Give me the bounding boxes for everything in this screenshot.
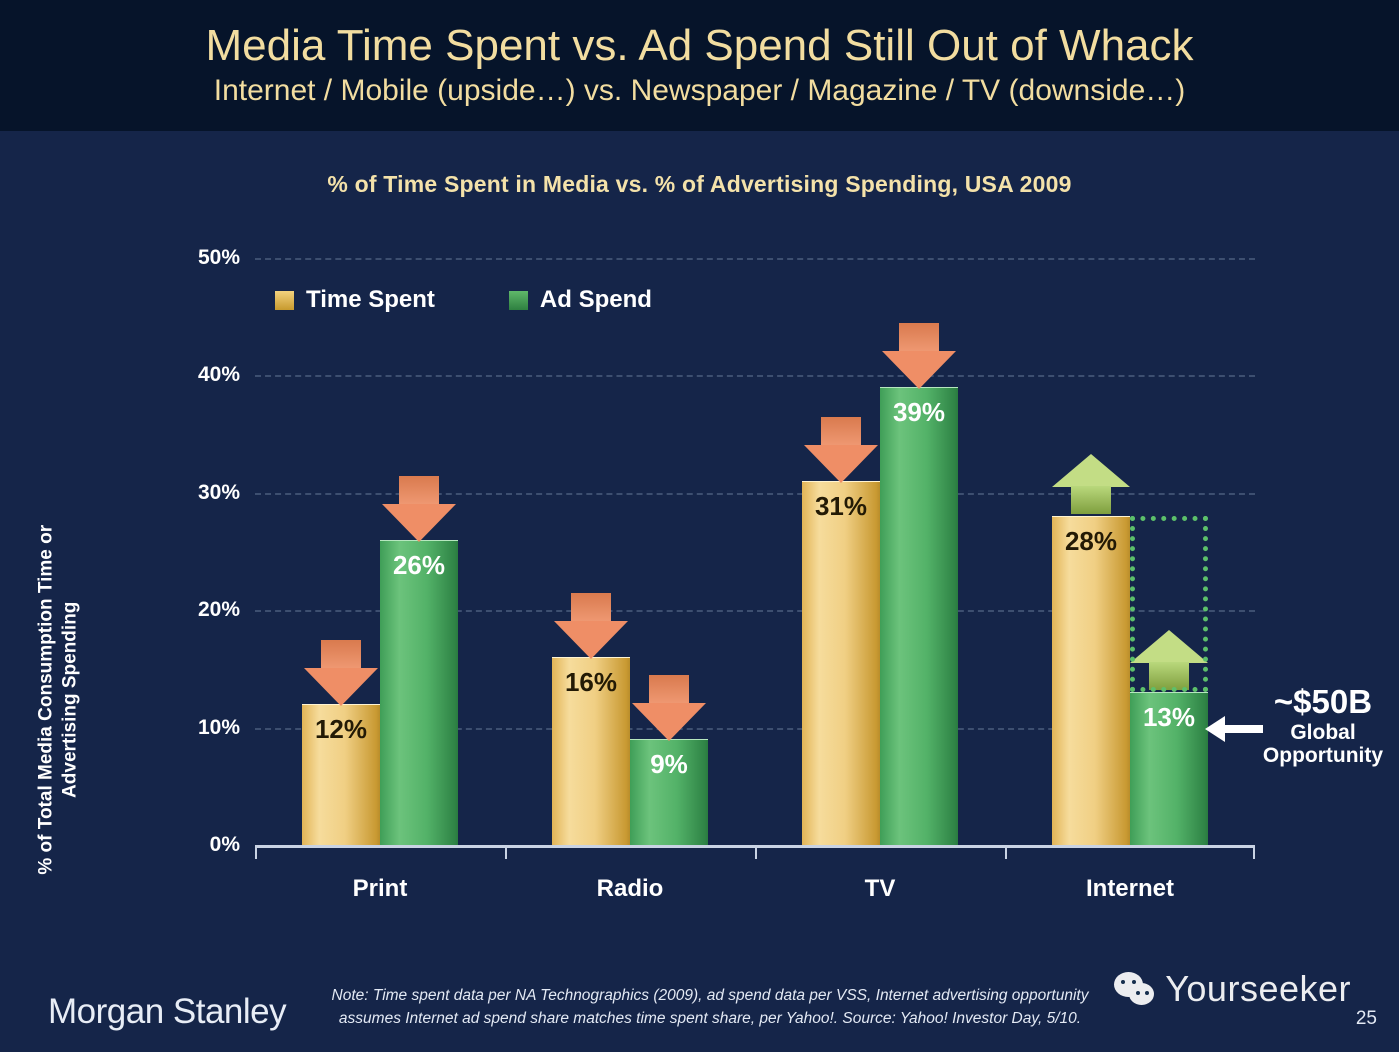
x-axis-label-print: Print [255,875,505,903]
bar-radio-time-spent[interactable]: 16% [552,657,630,845]
gridline [255,375,1255,377]
x-axis-label-internet: Internet [1005,875,1255,903]
y-axis-tick-label: 30% [198,481,240,505]
footnote: Note: Time spent data per NA Technograph… [310,984,1110,1031]
bar-radio-ad-spend[interactable]: 9% [630,739,708,845]
bar-value-label: 26% [380,550,458,581]
x-axis-tick [1253,848,1255,859]
x-axis-tick [255,848,257,859]
x-axis-tick [505,848,507,859]
bar-internet-time-spent[interactable]: 28% [1052,516,1130,845]
bar-value-label: 13% [1130,702,1208,733]
callout-left-arrow-icon [1205,716,1263,742]
x-axis-label-tv: TV [755,875,1005,903]
x-axis-tick [755,848,757,859]
down-arrow-icon [804,417,878,483]
y-axis-title: % of Total Media Consumption Time or Adv… [34,490,82,910]
gridline [255,258,1255,260]
bar-print-ad-spend[interactable]: 26% [380,540,458,845]
x-axis-label-radio: Radio [505,875,755,903]
watermark-text: Yourseeker [1165,968,1351,1010]
y-axis-tick-label: 0% [210,833,240,857]
callout-line-3: Opportunity [1243,744,1399,768]
opportunity-gap-box [1130,516,1208,692]
legend-label: Time Spent [306,286,435,314]
bar-value-label: 31% [802,491,880,522]
slide: Media Time Spent vs. Ad Spend Still Out … [0,0,1399,1052]
down-arrow-icon [382,476,456,542]
chart-title: % of Time Spent in Media vs. % of Advert… [0,171,1399,198]
opportunity-callout: ~$50B Global Opportunity [1243,684,1399,768]
page-subtitle: Internet / Mobile (upside…) vs. Newspape… [214,74,1186,108]
bar-print-time-spent[interactable]: 12% [302,704,380,845]
bar-tv-ad-spend[interactable]: 39% [880,387,958,845]
morgan-stanley-logo: Morgan Stanley [48,992,286,1032]
bar-value-label: 39% [880,397,958,428]
legend-label: Ad Spend [540,286,652,314]
page-title: Media Time Spent vs. Ad Spend Still Out … [205,23,1193,69]
y-axis-tick-label: 40% [198,363,240,387]
down-arrow-icon [304,640,378,706]
bar-value-label: 9% [630,749,708,780]
down-arrow-icon [554,593,628,659]
legend-item-ad-spend: Ad Spend [509,286,652,314]
page-number: 25 [1356,1008,1377,1030]
down-arrow-icon [882,323,956,389]
bar-value-label: 28% [1052,526,1130,557]
down-arrow-icon [632,675,706,741]
bar-tv-time-spent[interactable]: 31% [802,481,880,845]
plot-area: Time Spent Ad Spend 0%10%20%30%40%50%12%… [255,258,1255,848]
bar-value-label: 16% [552,667,630,698]
y-axis-tick-label: 10% [198,716,240,740]
legend-swatch-icon [275,291,294,310]
wechat-icon [1114,972,1156,1006]
y-axis-tick-label: 20% [198,598,240,622]
chart-legend: Time Spent Ad Spend [275,286,652,314]
bar-internet-ad-spend[interactable]: 13% [1130,692,1208,845]
callout-amount: ~$50B [1243,684,1399,721]
slide-body: % of Time Spent in Media vs. % of Advert… [0,131,1399,1052]
callout-line-2: Global [1243,721,1399,745]
y-axis-tick-label: 50% [198,246,240,270]
watermark: Yourseeker [1114,968,1351,1010]
legend-item-time-spent: Time Spent [275,286,435,314]
bar-value-label: 12% [302,714,380,745]
up-arrow-icon [1052,454,1130,514]
x-axis-tick [1005,848,1007,859]
slide-header: Media Time Spent vs. Ad Spend Still Out … [0,0,1399,131]
legend-swatch-icon [509,291,528,310]
